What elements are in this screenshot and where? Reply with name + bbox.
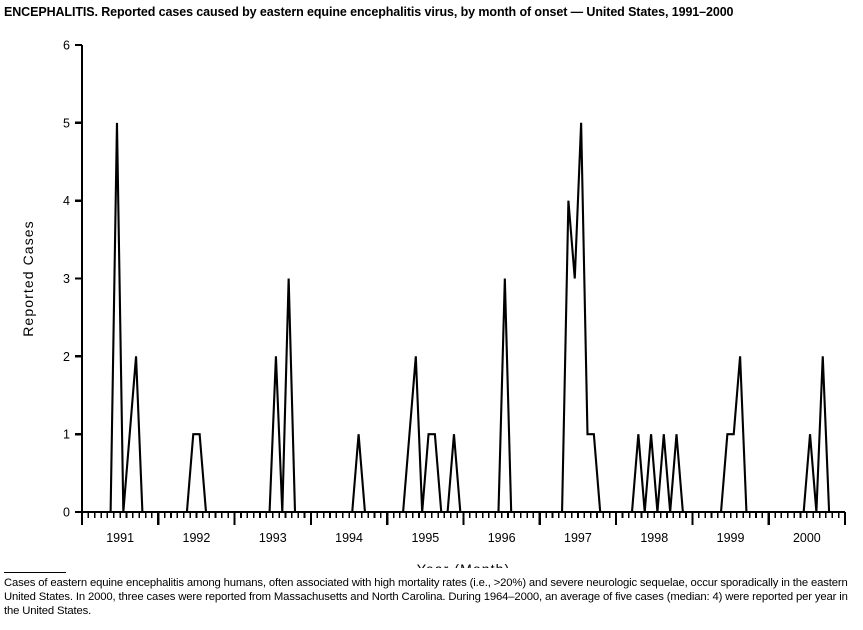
footnote-divider	[4, 572, 66, 573]
x-axis-tick-label: 1992	[183, 531, 211, 545]
x-axis-tick-label: 1995	[411, 531, 439, 545]
x-axis-tick-label: 1998	[640, 531, 668, 545]
x-axis-tick-label: 1991	[106, 531, 134, 545]
footnote-block: Cases of eastern equine encephalitis amo…	[4, 572, 856, 618]
y-axis-tick-label: 0	[63, 506, 70, 520]
x-axis-tick-label: 1993	[259, 531, 287, 545]
x-axis-tick-label: 1997	[564, 531, 592, 545]
x-axis-tick-labels: 1991199219931994199519961997199819992000	[106, 531, 821, 545]
y-axis-title: Reported Cases	[20, 220, 36, 337]
y-axis-tick-label: 2	[63, 350, 70, 364]
y-axis-tick-labels: 0123456	[63, 39, 70, 520]
x-axis-tick-label: 2000	[793, 531, 821, 545]
y-axis-tick-label: 3	[63, 272, 70, 286]
chart-plot-area: 0123456 19911992199319941995199619971998…	[0, 28, 863, 568]
encephalitis-line-chart: 0123456 19911992199319941995199619971998…	[0, 28, 863, 568]
y-axis-tick-label: 4	[63, 194, 70, 208]
figure-title: ENCEPHALITIS. Reported cases caused by e…	[4, 5, 859, 19]
x-axis-title: Year (Month)	[417, 561, 511, 568]
x-axis-tick-label: 1999	[717, 531, 745, 545]
footnote-text: Cases of eastern equine encephalitis amo…	[4, 576, 856, 618]
x-axis-tick-label: 1994	[335, 531, 363, 545]
y-axis-tick-label: 5	[63, 116, 70, 130]
y-axis-tick-label: 6	[63, 39, 70, 53]
y-axis-tick-label: 1	[63, 428, 70, 442]
case-count-line	[85, 123, 842, 512]
x-axis-tick-label: 1996	[488, 531, 516, 545]
